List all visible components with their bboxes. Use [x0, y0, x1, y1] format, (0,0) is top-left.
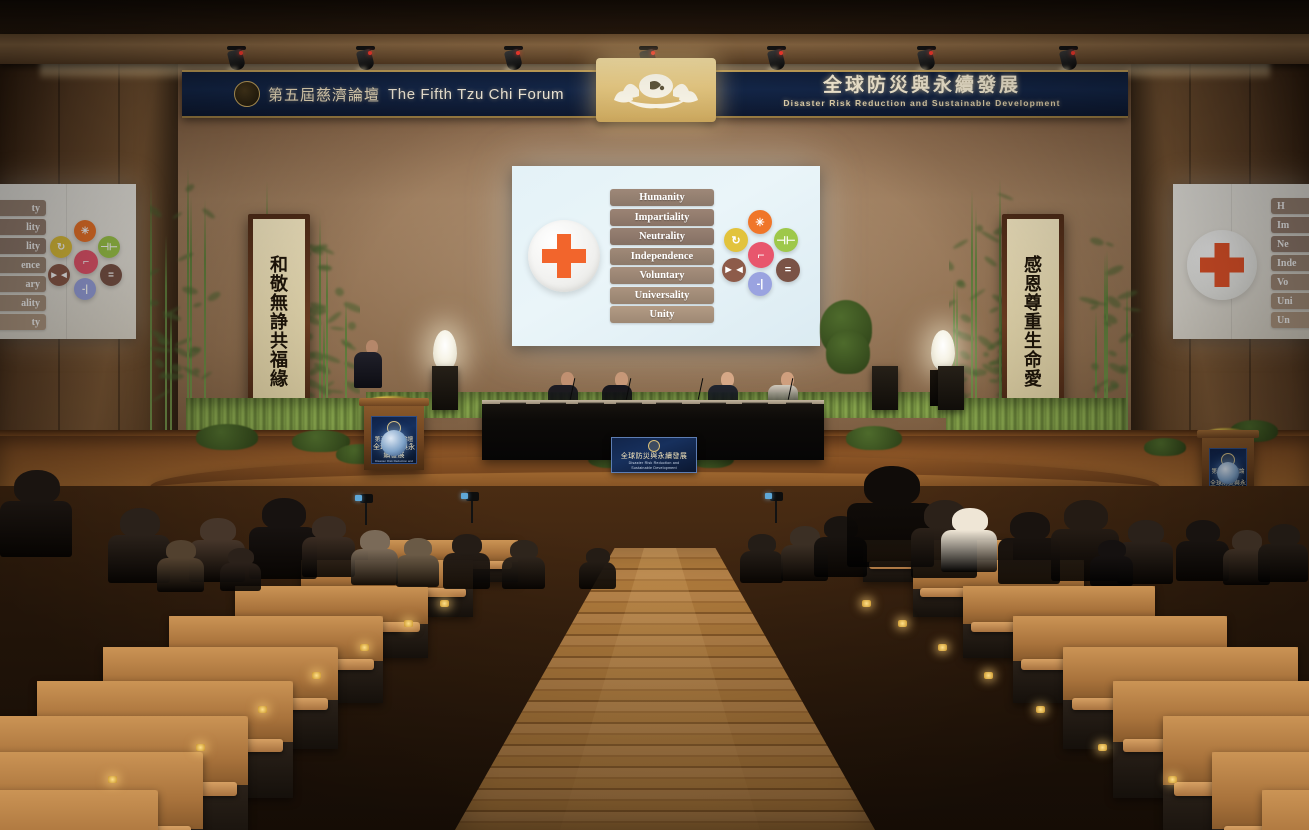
bamboo-leaf	[983, 255, 998, 269]
spotlight-7	[1060, 46, 1077, 72]
scroll-character: 福	[270, 352, 288, 370]
red-cross-symbol	[528, 220, 600, 292]
principle-icon-cluster: ✳↻⊣⊢⌐►◄=-|	[718, 210, 810, 302]
step-light	[898, 620, 907, 627]
equals-icon: =	[776, 258, 800, 282]
step-light	[404, 620, 413, 627]
red-cross-panel	[522, 220, 606, 292]
principle-unity: Unity	[610, 306, 714, 323]
principle-voluntary: Voluntary	[610, 267, 714, 284]
pew-row[interactable]	[1262, 790, 1309, 830]
bamboo-leaf	[989, 306, 1000, 314]
table-sign-english-2: Sustainable Development	[631, 466, 677, 470]
step-light	[862, 600, 871, 607]
bamboo-leaf	[347, 320, 358, 331]
scroll-character: 命	[1024, 352, 1042, 370]
bamboo-leaf	[150, 346, 171, 354]
left-screen-principle-2: lity	[0, 219, 46, 235]
bamboo-leaf	[153, 357, 166, 369]
flag-icon: ⌐	[748, 242, 774, 268]
bamboo-leaf	[1107, 350, 1117, 358]
scroll-character: 恩	[1024, 276, 1042, 294]
left-screen-principle-4: ence	[0, 257, 46, 273]
bamboo-leaf	[151, 389, 171, 403]
left-screen-equals-icon: =	[100, 264, 122, 286]
decorative-plant	[1144, 438, 1186, 456]
table-front-sign: 全球防災與永續發展 Disaster Risk Reduction and Su…	[611, 437, 697, 473]
bamboo-planter-row-right	[946, 398, 1126, 432]
bamboo-leaf	[201, 207, 216, 221]
bamboo-leaf	[330, 326, 345, 331]
left-screen-principle-3: lity	[0, 238, 46, 254]
audience-member	[228, 548, 261, 591]
banner-chinese-title: 第五屆慈濟論壇	[268, 84, 380, 105]
bamboo-leaf	[193, 301, 203, 308]
tzu-chi-seal-icon	[234, 81, 260, 107]
bamboo-leaf	[949, 258, 956, 273]
principle-universality: Universality	[610, 287, 714, 304]
audience-member	[748, 534, 783, 583]
right-screen-principle-1: H	[1271, 198, 1309, 214]
stage-loudspeaker-left	[432, 366, 458, 410]
left-screen-principle-7: ty	[0, 314, 46, 330]
principle-neutrality: Neutrality	[610, 228, 714, 245]
main-projection-screen: HumanityImpartialityNeutralityIndependen…	[512, 166, 820, 346]
stage-loudspeaker-right	[872, 366, 898, 410]
left-projection-screen: tylitylityencearyalityty ✳↻⊣⊢⌐►◄=-|	[0, 184, 136, 339]
table-sign-chinese: 全球防災與永續發展	[621, 453, 688, 460]
bamboo-leaf	[201, 371, 213, 381]
left-screen-bar-icon: -|	[74, 278, 96, 300]
step-light	[984, 672, 993, 679]
step-light	[938, 644, 947, 651]
left-screen-sunburst-icon: ✳	[74, 220, 96, 242]
audience-member	[166, 540, 204, 592]
scroll-character: 愛	[1024, 371, 1042, 389]
forum-seal-icon	[648, 440, 660, 452]
bamboo-leaf	[193, 348, 200, 353]
scroll-character: 重	[1024, 314, 1042, 332]
lotus-emblem-plaque	[596, 58, 716, 122]
arrows-in-icon: ►◄	[722, 258, 746, 282]
video-camera	[466, 492, 479, 501]
bamboo-leaf	[1090, 304, 1100, 312]
decorative-plant	[846, 426, 902, 450]
bamboo-leaf	[952, 238, 969, 250]
right-screen-principle-5: Vo	[1271, 274, 1309, 290]
left-screen-principle-6: ality	[0, 295, 46, 311]
podium-top-right	[1197, 430, 1259, 438]
bamboo-leaf	[206, 290, 221, 303]
globe-icon	[1217, 462, 1239, 484]
spotlight-1	[228, 46, 245, 72]
decorative-plant	[826, 330, 870, 374]
step-light	[1168, 776, 1177, 783]
audience-member	[360, 530, 398, 585]
step-light	[312, 672, 321, 679]
podium-left[interactable]: 第五屆慈濟論壇 全球防災與永續發展 Disaster Risk Reductio…	[364, 404, 424, 470]
step-light	[1036, 706, 1045, 713]
principles-list: HumanityImpartialityNeutralityIndependen…	[606, 185, 718, 327]
scale-icon: ⊣⊢	[774, 228, 798, 252]
stage-loudspeaker-right-2	[938, 366, 964, 410]
bamboo-stalk	[150, 183, 152, 440]
banner-english-title: The Fifth Tzu Chi Forum	[388, 86, 564, 103]
video-camera	[770, 492, 783, 501]
bamboo-stalk	[165, 235, 167, 440]
spotlight-5	[768, 46, 785, 72]
principle-impartiality: Impartiality	[610, 209, 714, 226]
bamboo-leaf	[1104, 241, 1114, 248]
audience-member	[404, 538, 439, 587]
video-camera	[360, 494, 373, 503]
spotlight-6	[918, 46, 935, 72]
audience-member	[510, 540, 545, 589]
scroll-character: 尊	[1024, 295, 1042, 313]
table-sign-english-1: Disaster Risk Reduction and	[629, 461, 680, 465]
bamboo-leaf	[184, 183, 196, 194]
audience-member	[14, 470, 72, 557]
right-screen-principle-3: Ne	[1271, 236, 1309, 252]
left-screen-principle-5: ary	[0, 276, 46, 292]
right-screen-principle-4: Inde	[1271, 255, 1309, 271]
bamboo-leaf	[1090, 362, 1100, 372]
scroll-character: 諍	[270, 314, 288, 332]
bamboo-leaf	[989, 379, 999, 383]
bar-icon: -|	[748, 272, 772, 296]
bamboo-leaf	[1090, 237, 1105, 247]
left-screen-principle-1: ty	[0, 200, 46, 216]
audience-member	[452, 534, 490, 589]
audience-member	[1128, 520, 1173, 584]
podium-top-left	[359, 398, 429, 406]
scroll-character: 敬	[270, 276, 288, 294]
audience-member	[1098, 540, 1133, 586]
bamboo-leaf	[172, 211, 183, 219]
left-screen-arrows-in-icon: ►◄	[48, 264, 70, 286]
podium-banner-left: 第五屆慈濟論壇 全球防災與永續發展 Disaster Risk Reductio…	[371, 416, 417, 464]
audience-member	[586, 548, 616, 589]
right-screen-principle-7: Un	[1271, 312, 1309, 328]
audience-member	[1268, 524, 1308, 582]
lotus-icon	[610, 70, 702, 112]
bamboo-leaf	[150, 300, 160, 307]
banner-left-section: 第五屆慈濟論壇 The Fifth Tzu Chi Forum	[182, 72, 586, 116]
step-light	[440, 600, 449, 607]
right-screen-principle-6: Uni	[1271, 293, 1309, 309]
scroll-character: 無	[270, 295, 288, 313]
left-screen-scale-icon: ⊣⊢	[98, 236, 120, 258]
principle-independence: Independence	[610, 248, 714, 265]
scroll-character: 和	[270, 257, 288, 275]
scroll-character: 緣	[270, 371, 288, 389]
pew-row[interactable]	[0, 790, 158, 830]
step-light	[108, 776, 117, 783]
left-screen-refresh-icon: ↻	[50, 236, 72, 258]
bamboo-leaf	[150, 204, 164, 220]
audience-member	[952, 508, 997, 572]
podium-english-1: Disaster Risk Reduction and	[372, 460, 416, 464]
sunburst-icon: ✳	[748, 210, 772, 234]
step-light	[1098, 744, 1107, 751]
audience-member	[312, 516, 355, 577]
step-light	[360, 644, 369, 651]
refresh-icon: ↻	[724, 228, 748, 252]
spotlight-3	[505, 46, 522, 72]
bamboo-leaf	[982, 351, 989, 357]
right-projection-screen: HImNeIndeVoUniUn	[1173, 184, 1309, 339]
bamboo-leaf	[972, 369, 987, 376]
standing-speaker	[362, 340, 382, 388]
step-light	[258, 706, 267, 713]
step-light	[196, 744, 205, 751]
scroll-character: 共	[270, 333, 288, 351]
red-cross-symbol-right-screen	[1187, 230, 1257, 300]
decorative-plant	[196, 424, 258, 450]
scroll-character: 感	[1024, 257, 1042, 275]
bamboo-leaf	[170, 363, 183, 373]
bamboo-leaf	[334, 286, 346, 298]
globe-icon	[381, 430, 407, 456]
principle-humanity: Humanity	[610, 189, 714, 206]
scroll-character: 生	[1024, 333, 1042, 351]
auditorium-photo: 第五屆慈濟論壇 The Fifth Tzu Chi Forum 全球防災與永續發…	[0, 0, 1309, 830]
bamboo-leaf	[326, 310, 342, 324]
spotlight-2	[357, 46, 374, 72]
right-screen-principle-2: Im	[1271, 217, 1309, 233]
left-screen-flag-icon: ⌐	[74, 250, 98, 274]
